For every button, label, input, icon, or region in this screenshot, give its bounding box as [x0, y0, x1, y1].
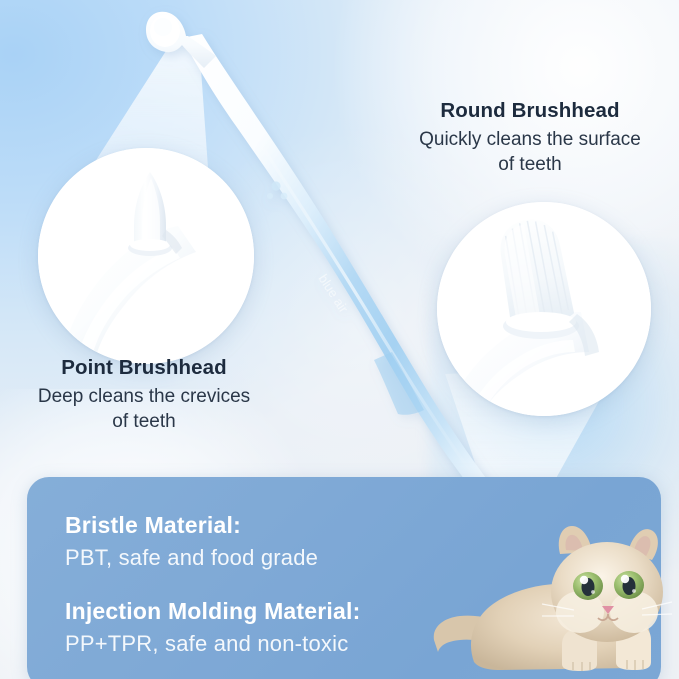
cat-eye-right	[614, 571, 644, 599]
callout-desc-line2: of teeth	[2, 409, 286, 434]
infographic-canvas: blue air	[0, 0, 679, 679]
callout-title: Point Brushhead	[2, 355, 286, 381]
callout-desc-line1: Quickly cleans the surface	[392, 127, 668, 152]
cat-image	[430, 512, 679, 679]
round-brushhead-closeup	[437, 202, 651, 416]
callout-round-brushhead: Round Brushhead Quickly cleans the surfa…	[392, 98, 668, 177]
callout-desc-line1: Deep cleans the crevices	[2, 384, 286, 409]
lens-round-brushhead	[437, 202, 651, 416]
cat-eye-left	[573, 572, 603, 600]
british-shorthair-cat	[430, 512, 679, 679]
point-brushhead-closeup	[38, 148, 254, 364]
callout-desc-line2: of teeth	[392, 152, 668, 177]
lens-point-brushhead	[38, 148, 254, 364]
callout-title: Round Brushhead	[392, 98, 668, 124]
callout-point-brushhead: Point Brushhead Deep cleans the crevices…	[2, 355, 286, 434]
